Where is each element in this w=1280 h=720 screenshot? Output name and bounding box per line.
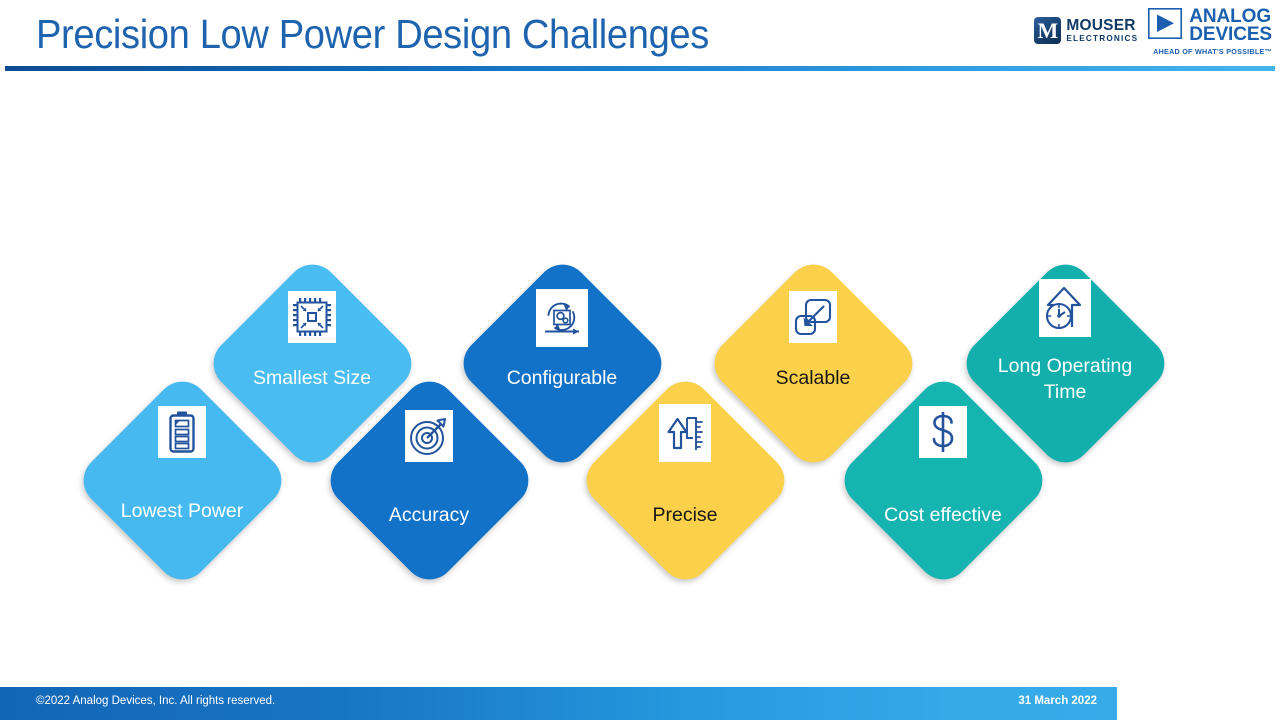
- footer-bar: ©2022 Analog Devices, Inc. All rights re…: [0, 687, 1117, 720]
- diagram-item-label: Long Operating Time: [983, 353, 1148, 406]
- target-arrow-icon: [405, 410, 453, 462]
- gears-refresh-icon: [536, 289, 588, 347]
- diagram-item-label: Precise: [580, 502, 790, 528]
- resize-arrow-icon: [789, 291, 837, 343]
- diagram-item-label: Lowest Power: [77, 498, 287, 524]
- clock-arrow-icon: [1039, 279, 1091, 337]
- diagram-item-label: Cost effective: [838, 502, 1048, 528]
- slide-canvas: Precision Low Power Design Challenges M …: [0, 0, 1280, 720]
- diagram-item-label: Accuracy: [324, 502, 534, 528]
- battery-icon: [158, 406, 206, 458]
- diamond-diagram: Lowest Power: [0, 0, 1280, 720]
- chip-shrink-icon: [288, 291, 336, 343]
- footer-copyright: ©2022 Analog Devices, Inc. All rights re…: [36, 695, 275, 707]
- footer-date: 31 March 2022: [1018, 695, 1097, 707]
- diagram-item-long-operating-time[interactable]: Long Operating Time: [955, 253, 1175, 473]
